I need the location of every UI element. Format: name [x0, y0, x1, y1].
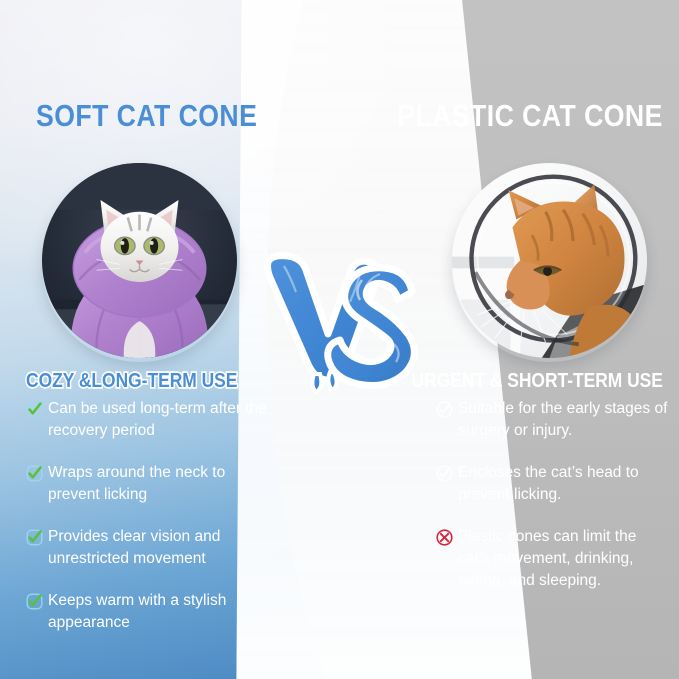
list-item-label: Plastic cones can limit the cat’s moveme… [458, 526, 672, 592]
list-item-label: Provides clear vision and unrestricted m… [48, 526, 274, 570]
comparison-infographic: SOFT CAT CONE PLASTIC CAT CONE [0, 0, 679, 679]
green-check-icon [26, 401, 43, 418]
left-benefit-list: Can be used long-term after the recovery… [26, 398, 274, 654]
list-item: Encloses the cat’s head to prevent licki… [436, 462, 672, 506]
list-item-label: Can be used long-term after the recovery… [48, 398, 274, 442]
green-check-icon [26, 465, 43, 482]
list-item-label: Suitable for the early stages of surgery… [458, 398, 672, 442]
vs-badge [262, 248, 422, 398]
right-panel-title: PLASTIC CAT CONE [397, 100, 663, 131]
list-item: Suitable for the early stages of surgery… [436, 398, 672, 442]
right-subheading: URGENT & SHORT-TERM USE [412, 371, 663, 391]
vs-brush-badge [262, 248, 422, 398]
list-item: Keeps warm with a stylish appearance [26, 590, 274, 634]
list-item: Plastic cones can limit the cat’s moveme… [436, 526, 672, 592]
left-product-photo [42, 163, 237, 358]
list-item: Provides clear vision and unrestricted m… [26, 526, 274, 570]
list-item: Wraps around the neck to prevent licking [26, 462, 274, 506]
left-panel-title: SOFT CAT CONE [36, 100, 257, 131]
list-item: Can be used long-term after the recovery… [26, 398, 274, 442]
right-product-photo [452, 163, 647, 358]
right-benefit-list: Suitable for the early stages of surgery… [436, 398, 672, 612]
list-item-label: Wraps around the neck to prevent licking [48, 462, 274, 506]
green-check-icon [26, 593, 43, 610]
list-item-label: Keeps warm with a stylish appearance [48, 590, 274, 634]
green-check-icon [26, 529, 43, 546]
white-check-icon [436, 465, 453, 482]
cat-soft-cone-photo [42, 163, 237, 358]
white-check-icon [436, 401, 453, 418]
cat-plastic-cone-photo [452, 163, 647, 358]
list-item-label: Encloses the cat’s head to prevent licki… [458, 462, 672, 506]
left-subheading: COZY &LONG-TERM USE [26, 371, 237, 391]
red-cross-icon [436, 529, 453, 546]
